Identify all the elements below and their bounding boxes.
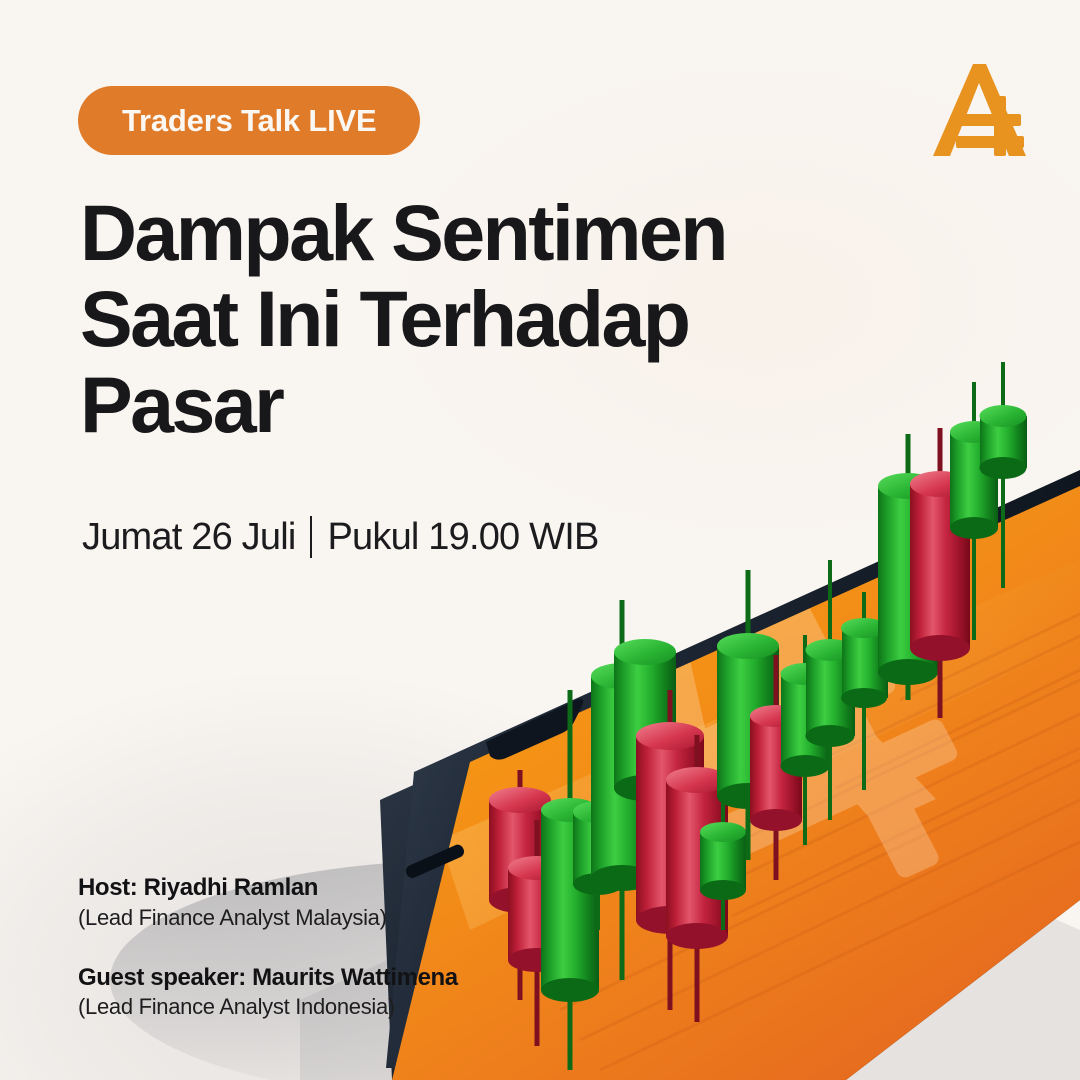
candle-11-bearish — [750, 655, 802, 880]
candle-2-bearish — [508, 820, 566, 1046]
candle-8-bearish — [666, 735, 728, 1022]
candle-14-bullish — [841, 592, 888, 790]
candle-16-bearish — [910, 428, 970, 718]
candle-13-bullish — [806, 560, 856, 820]
candle-10-bullish — [717, 570, 779, 860]
candle-1-bearish — [489, 770, 551, 1000]
candle-5-bullish — [591, 600, 653, 980]
headline-line-1: Dampak Sentimen — [80, 190, 810, 276]
headline-line-2: Saat Ini Terhadap — [80, 276, 810, 362]
page-title: Dampak Sentimen Saat Ini Terhadap Pasar — [80, 190, 810, 448]
phone-side-edge — [380, 782, 1080, 1080]
live-badge[interactable]: Traders Talk LIVE — [78, 86, 420, 155]
candle-9-bullish — [700, 772, 746, 930]
candlestick-series — [489, 362, 1027, 1070]
credit-guest-name: Guest speaker: Maurits Wattimena — [78, 963, 458, 994]
poster-canvas: Traders Talk LIVE Dampak Sentimen Saat I… — [0, 0, 1080, 1080]
credit-host: Host: Riyadhi Ramlan (Lead Finance Analy… — [78, 873, 458, 932]
candle-12-bullish — [781, 635, 831, 845]
candle-4-bullish — [573, 700, 623, 930]
phone-body — [386, 470, 1080, 1068]
brand-logo — [922, 52, 1034, 164]
schedule-time: Pukul 19.00 WIB — [327, 518, 598, 556]
headline-line-3: Pasar — [80, 362, 810, 448]
phone-screen — [392, 486, 1080, 1080]
candle-3-bullish — [541, 690, 599, 1070]
letter-a-currency-logo-icon — [933, 64, 1026, 156]
credit-host-role: (Lead Finance Analyst Malaysia) — [78, 904, 458, 933]
candle-15-bullish — [878, 434, 938, 700]
credit-guest: Guest speaker: Maurits Wattimena (Lead F… — [78, 963, 458, 1022]
phone-notch — [486, 699, 583, 760]
screen-logo-watermark — [498, 428, 1001, 968]
credit-host-name: Host: Riyadhi Ramlan — [78, 873, 458, 904]
screen-sheen — [440, 560, 1080, 930]
schedule-line: Jumat 26 Juli Pukul 19.00 WIB — [82, 516, 599, 558]
screen-line-texture — [560, 614, 1080, 1070]
candle-7-bearish — [636, 690, 704, 1010]
candle-6-bullish — [614, 639, 676, 905]
schedule-date: Jumat 26 Juli — [82, 518, 295, 556]
credit-guest-role: (Lead Finance Analyst Indonesia) — [78, 993, 458, 1022]
schedule-separator — [310, 516, 312, 558]
speaker-credits: Host: Riyadhi Ramlan (Lead Finance Analy… — [78, 873, 458, 1022]
candle-18-bullish — [980, 362, 1028, 588]
live-badge-label: Traders Talk LIVE — [122, 105, 376, 136]
candle-17-bullish — [950, 382, 998, 640]
